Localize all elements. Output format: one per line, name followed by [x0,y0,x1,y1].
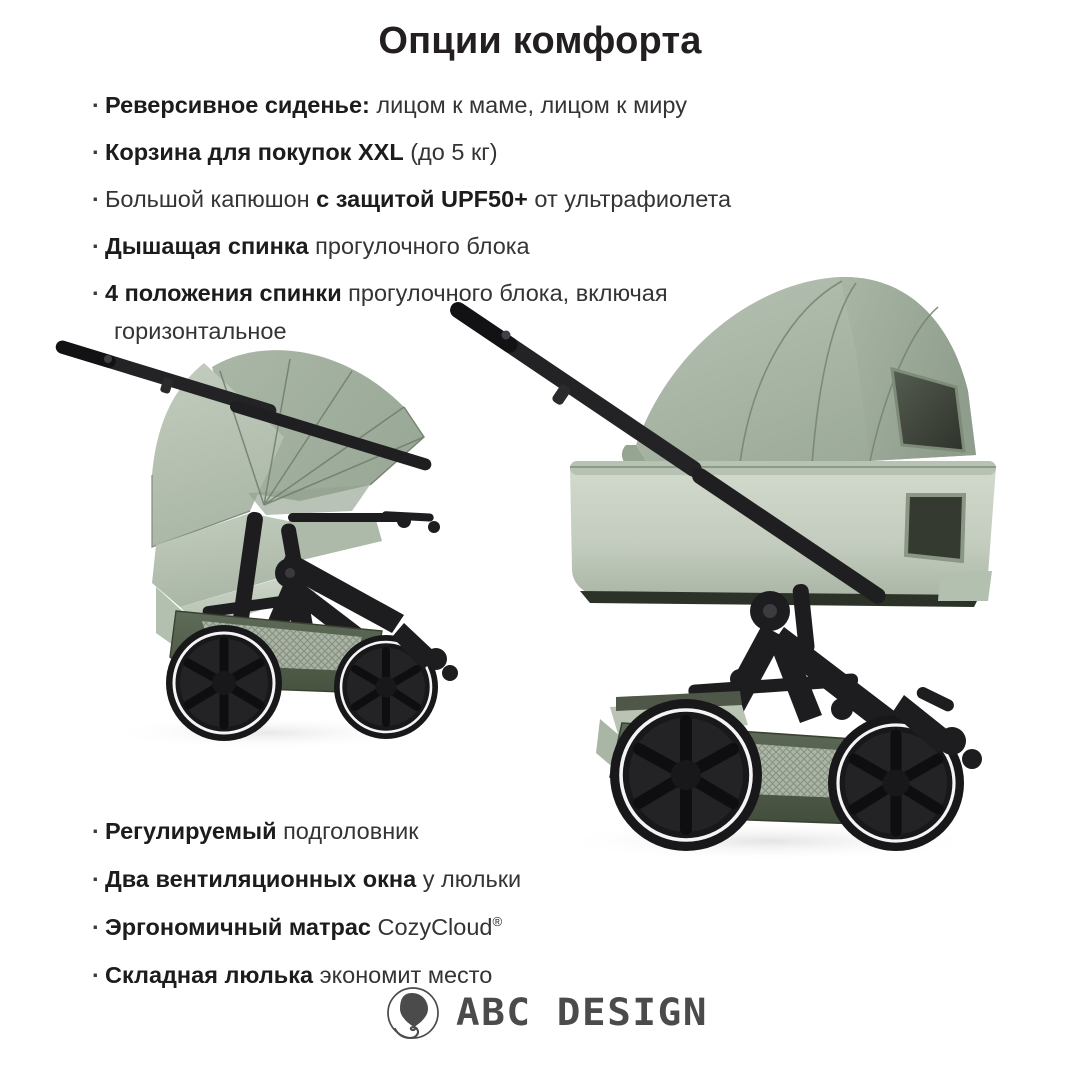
page-title: Опции комфорта [0,20,1080,63]
product-stage [0,255,1080,895]
body-mesh-vent [906,495,964,561]
bullet-dot: · [92,86,105,124]
list-item: ·Эргономичный матрас CozyCloud® [92,908,792,946]
list-item: ·Большой капюшон с защитой UPF50+ от уль… [92,180,992,218]
feature-text: у люльки [416,866,521,892]
feature-bold: Два вентиляционных окна [105,866,416,892]
balloon-in-circle-icon [386,986,440,1040]
bullet-dot: · [92,133,105,171]
feature-text: (до 5 кг) [404,139,498,165]
registered-mark: ® [493,914,503,929]
stroller-carrycot [440,255,1040,875]
bullet-dot: · [92,180,105,218]
list-item: ·Корзина для покупок XXL (до 5 кг) [92,133,992,171]
hood [622,277,976,469]
feature-prefix: Большой капюшон [105,186,316,212]
handle-adjust-button [502,331,511,340]
feature-text: CozyCloud [371,914,492,940]
feature-bold: с защитой UPF50+ [316,186,528,212]
brand-wordmark: ABC DESIGN [456,991,708,1034]
feature-text: лицом к маме, лицом к миру [370,92,687,118]
feature-bold: Эргономичный матрас [105,914,371,940]
poster-canvas: Опции комфорта ·Реверсивное сиденье: лиц… [0,0,1080,1080]
feature-text: подголовник [277,818,419,844]
feature-bold: Реверсивное сиденье: [105,92,370,118]
bullet-dot: · [92,908,105,946]
bullet-dot: · [92,860,105,898]
stroller-seat-unit [52,315,472,765]
feature-text: от ультрафиолета [528,186,731,212]
feature-bold: Регулируемый [105,818,277,844]
front-wheel [166,625,282,741]
feature-bold: Корзина для покупок XXL [105,139,404,165]
handle-adjust-button [104,355,112,363]
list-item: ·Реверсивное сиденье: лицом к маме, лицо… [92,86,992,124]
list-item: ·Два вентиляционных окна у люльки [92,860,792,898]
bullet-dot: · [92,812,105,850]
brand-logo: ABC DESIGN [0,975,1080,1050]
list-item: ·Регулируемый подголовник [92,812,792,850]
